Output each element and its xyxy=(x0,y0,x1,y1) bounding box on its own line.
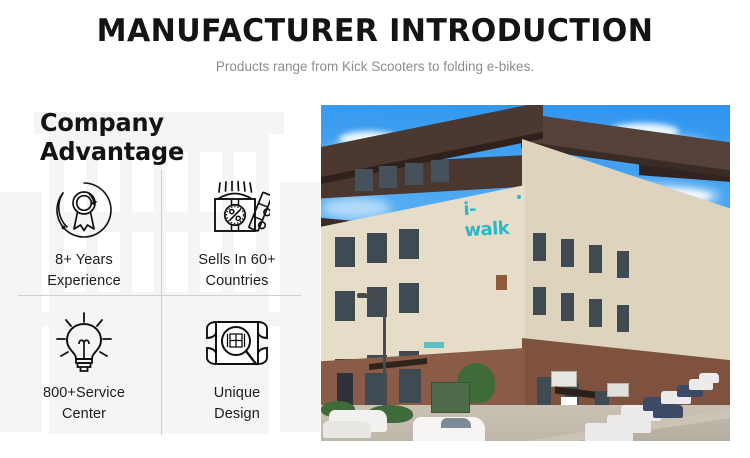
advantage-label-line2: Countries xyxy=(206,273,269,289)
parked-car xyxy=(653,405,683,418)
attic-window xyxy=(431,160,449,182)
manufacturer-introduction-banner: MANUFACTURER INTRODUCTION Products range… xyxy=(0,0,750,458)
window xyxy=(617,251,629,278)
advantage-label: Sells In 60+ Countries xyxy=(163,250,311,292)
attic-window xyxy=(355,169,373,191)
advantage-label: 800+Service Center xyxy=(10,383,158,425)
window xyxy=(537,377,551,407)
window xyxy=(533,233,546,261)
lightbulb-icon xyxy=(10,307,158,379)
advantage-label-line2: Design xyxy=(214,406,260,422)
attic-window xyxy=(405,163,423,185)
award-ribbon-icon xyxy=(10,174,158,246)
window xyxy=(533,287,546,315)
blueprint-magnifier-icon xyxy=(163,307,311,379)
window xyxy=(335,237,355,267)
parked-car xyxy=(699,373,719,383)
advantage-item-experience: 8+ Years Experience xyxy=(10,174,158,292)
attic-window xyxy=(379,166,397,188)
advantage-label: Unique Design xyxy=(163,383,311,425)
advantage-label-line2: Center xyxy=(62,406,106,422)
page-subtitle: Products range from Kick Scooters to fol… xyxy=(0,58,750,76)
air-conditioner-unit xyxy=(551,371,577,387)
window xyxy=(561,239,574,267)
air-conditioner-unit xyxy=(607,383,629,397)
building-logo: i-walk xyxy=(463,197,510,241)
discount-gift-box-icon xyxy=(163,174,311,246)
window xyxy=(335,291,355,321)
utility-cabinet xyxy=(431,382,470,413)
window xyxy=(399,369,421,403)
window xyxy=(399,283,419,313)
advantage-label-line1: 800+Service xyxy=(43,385,125,401)
signboard xyxy=(424,342,444,348)
parked-car xyxy=(585,423,633,441)
vertical-divider xyxy=(161,170,162,435)
advantage-item-countries: Sells In 60+ Countries xyxy=(163,174,311,292)
window xyxy=(617,305,629,332)
advantage-label-line1: Sells In 60+ xyxy=(198,252,275,268)
window xyxy=(589,299,602,327)
advantage-item-service-center: 800+Service Center xyxy=(10,307,158,425)
horizontal-divider xyxy=(18,295,301,296)
panel-title: Company Advantage xyxy=(40,108,309,166)
page-title: MANUFACTURER INTRODUCTION xyxy=(11,12,739,50)
window xyxy=(589,245,602,273)
window xyxy=(367,233,387,263)
wall-crest xyxy=(496,275,507,290)
company-advantage-panel: Company Advantage 8+ Years Experien xyxy=(0,92,320,458)
advantage-label-line1: 8+ Years xyxy=(55,252,113,268)
advantage-item-unique-design: Unique Design xyxy=(163,307,311,425)
window xyxy=(561,293,574,321)
advantage-label-line2: Experience xyxy=(47,273,121,289)
window xyxy=(399,229,419,259)
page-header: MANUFACTURER INTRODUCTION Products range… xyxy=(0,0,750,92)
street-lamp-pole xyxy=(383,295,386,415)
street-lamp-head xyxy=(357,293,367,298)
car-window xyxy=(441,418,471,428)
advantage-label-line1: Unique xyxy=(214,385,261,401)
parked-car xyxy=(323,421,371,438)
factory-building-photo: i-walk xyxy=(321,105,730,441)
advantage-label: 8+ Years Experience xyxy=(10,250,158,292)
